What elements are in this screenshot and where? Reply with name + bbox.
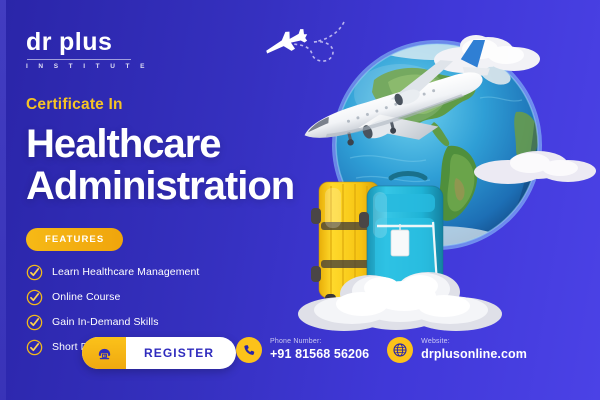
features-badge: FEATURES [26,228,123,251]
phone-circle-icon [236,337,262,363]
check-circle-icon [26,339,43,356]
contact-phone-text: Phone Number: +91 81568 56206 [270,338,369,362]
feature-label: Learn Healthcare Management [52,266,199,278]
headline-line-2: Administration [26,165,326,207]
headline-line-1: Healthcare [26,123,326,165]
telephone-icon [82,337,126,369]
cloud-top-right [430,28,550,76]
globe-circle-icon [387,337,413,363]
promotional-banner: drplus I N S T I T U T E Certificate In … [0,0,600,400]
contact-website-text: Website: drplusonline.com [421,338,527,362]
list-item: Gain In-Demand Skills [26,314,326,331]
eyebrow-text: Certificate In [26,96,326,114]
register-button-label: REGISTER [126,346,236,360]
content-column: drplus I N S T I T U T E Certificate In … [26,30,326,364]
check-circle-icon [26,314,43,331]
contact-website[interactable]: Website: drplusonline.com [387,337,527,363]
contact-phone[interactable]: Phone Number: +91 81568 56206 [236,337,369,363]
contact-phone-value: +91 81568 56206 [270,347,369,363]
list-item: Learn Healthcare Management [26,264,326,281]
list-item: Online Course [26,289,326,306]
left-edge-strip [0,0,6,400]
cloud-mid-right [468,140,600,192]
contact-website-label: Website: [421,338,527,347]
contact-strip: Phone Number: +91 81568 56206 Website: d… [236,337,527,363]
check-circle-icon [26,264,43,281]
feature-label: Online Course [52,291,120,303]
luggage-group [305,168,485,318]
check-circle-icon [26,289,43,306]
logo-word-plus: plus [59,28,112,56]
brand-logo: drplus I N S T I T U T E [26,30,326,70]
cloud-front [296,262,511,334]
contact-website-value: drplusonline.com [421,347,527,363]
earth-globe-americas [330,38,545,253]
teal-soft-suitcase [359,174,443,307]
page-title: Healthcare Administration [26,123,326,208]
feature-label: Gain In-Demand Skills [52,316,159,328]
logo-word-dr: dr [26,28,52,56]
contact-phone-label: Phone Number: [270,338,369,347]
logo-subtitle: I N S T I T U T E [26,63,326,70]
logo-wordmark: drplus [26,30,326,55]
logo-divider [27,59,131,60]
register-button[interactable]: REGISTER [82,337,236,369]
